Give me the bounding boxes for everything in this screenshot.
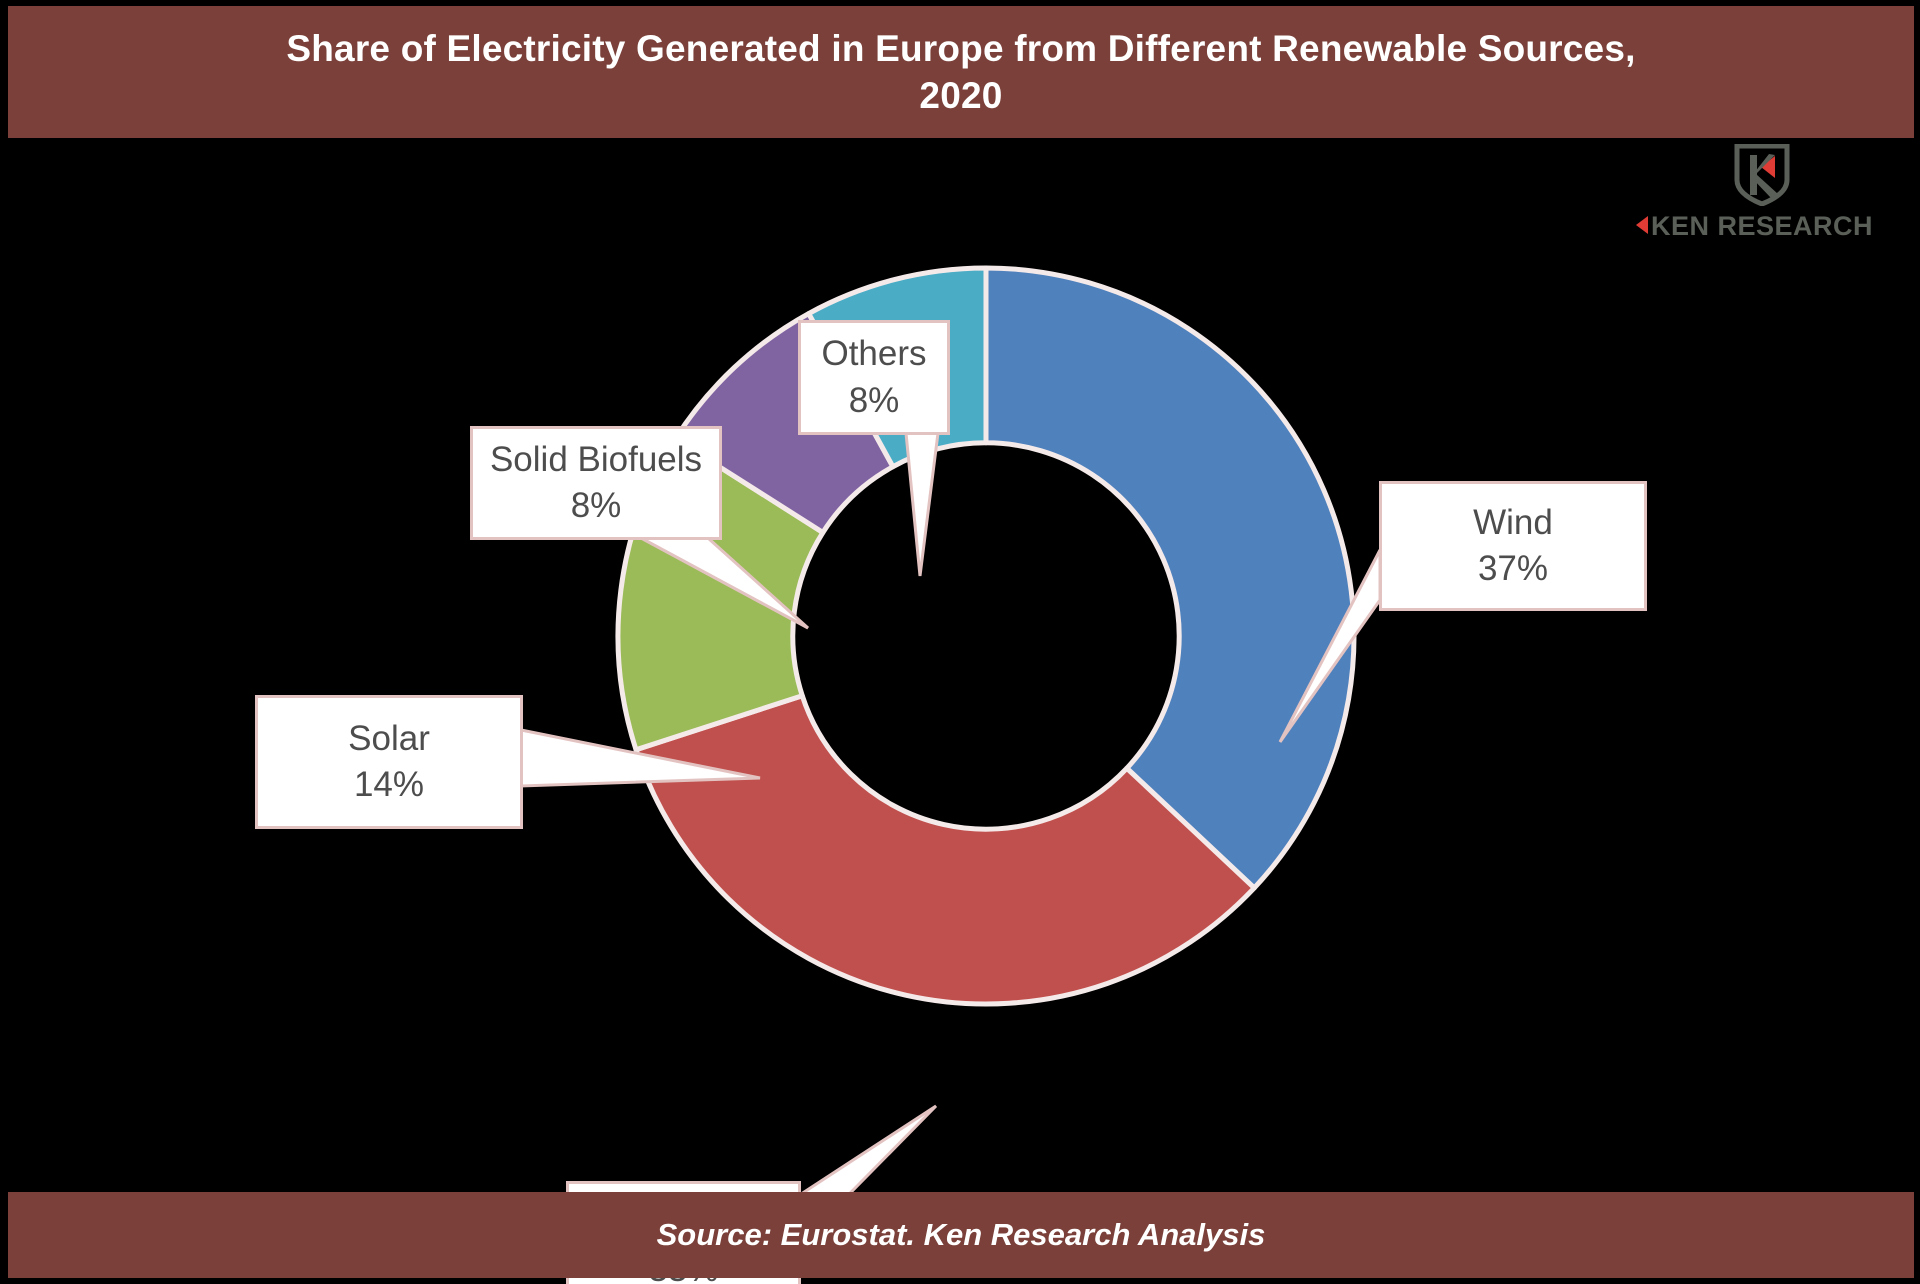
- chart-page: Share of Electricity Generated in Europe…: [0, 0, 1920, 1284]
- ken-research-wordmark: KEN RESEARCH: [1628, 210, 1896, 240]
- callout-others-label: Others: [821, 331, 926, 377]
- callout-solid-biofuels[interactable]: Solid Biofuels 8%: [470, 426, 722, 540]
- chart-footer-band: Source: Eurostat. Ken Research Analysis: [8, 1192, 1914, 1278]
- callout-others[interactable]: Others 8%: [798, 320, 950, 435]
- callout-others-value: 8%: [849, 378, 900, 424]
- source-note: Source: Eurostat. Ken Research Analysis: [657, 1217, 1266, 1253]
- callout-wind-value: 37%: [1478, 546, 1548, 592]
- callout-solid-biofuels-label: Solid Biofuels: [490, 437, 702, 483]
- svg-text:KEN RESEARCH: KEN RESEARCH: [1651, 211, 1873, 240]
- donut-slice-group: [618, 268, 1354, 1004]
- callout-solar-label: Solar: [348, 716, 430, 762]
- chart-header-band: Share of Electricity Generated in Europe…: [8, 6, 1914, 138]
- donut-chart-svg: [606, 256, 1366, 1016]
- donut-chart: [606, 256, 1366, 1016]
- callout-solar-value: 14%: [354, 762, 424, 808]
- chart-plot-area: KEN RESEARCH Others 8%: [8, 138, 1914, 1192]
- ken-research-logo: KEN RESEARCH: [1628, 144, 1896, 240]
- page-title: Share of Electricity Generated in Europe…: [226, 25, 1695, 120]
- callout-wind-label: Wind: [1473, 500, 1553, 546]
- callout-solar[interactable]: Solar 14%: [255, 695, 523, 829]
- donut-slice-wind[interactable]: [986, 268, 1354, 888]
- callout-solid-biofuels-value: 8%: [571, 483, 622, 529]
- callout-wind[interactable]: Wind 37%: [1379, 481, 1647, 611]
- ken-research-shield-icon: [1731, 144, 1793, 206]
